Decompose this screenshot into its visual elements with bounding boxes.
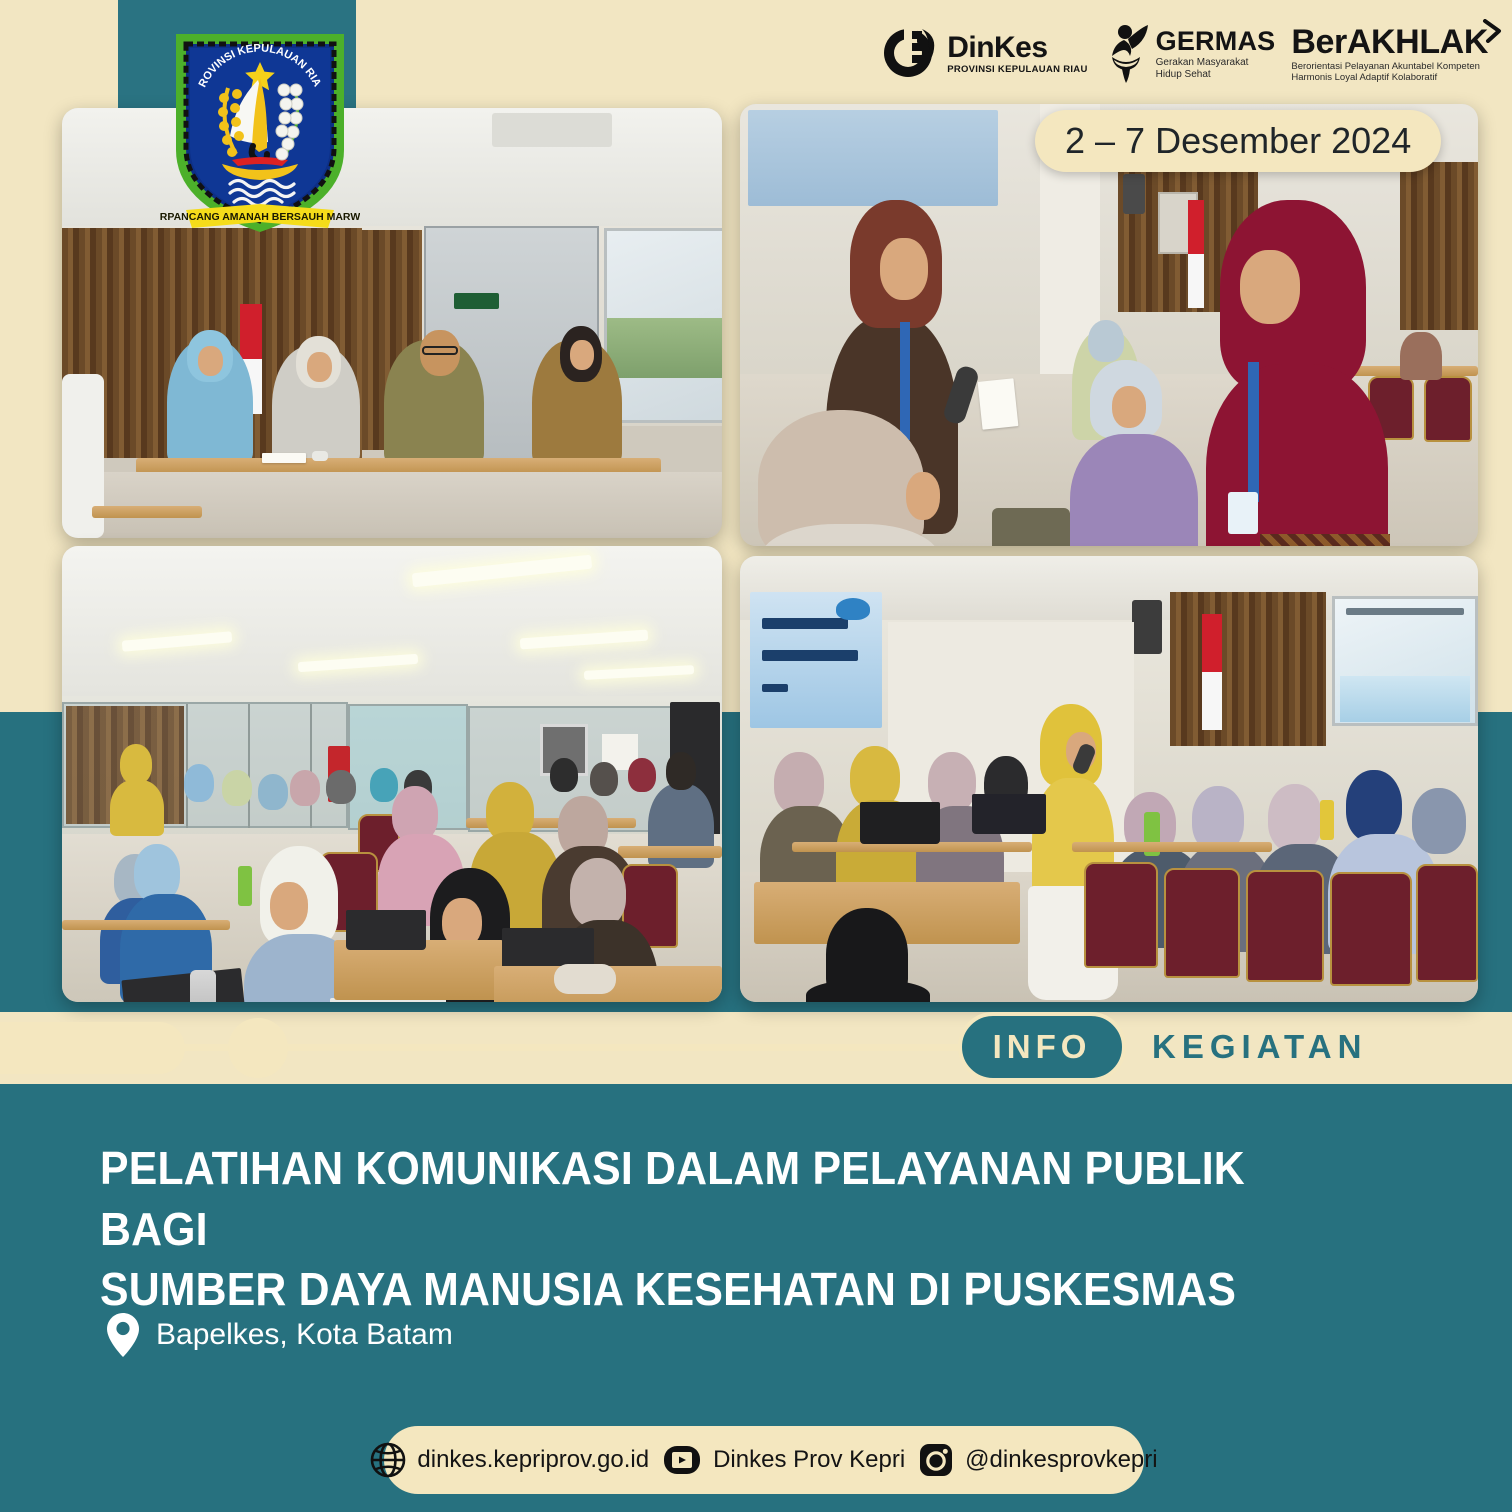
maroon-lanyard <box>1248 362 1259 502</box>
back-table-2 <box>618 846 722 858</box>
footer-contact-bar: dinkes.kepriprov.go.id Dinkes Prov Kepri… <box>384 1426 1144 1494</box>
slide-title <box>1346 608 1464 615</box>
photo-presentation-session <box>740 556 1478 1002</box>
dinkes-subtitle: PROVINSI KEPULAUAN RIAU <box>947 65 1087 75</box>
participant-front-dark-body <box>806 980 930 1002</box>
batik-skirt <box>1260 534 1390 546</box>
floor <box>62 472 722 538</box>
participant-r3-hijab <box>1268 784 1322 852</box>
emblem-motto: BERPANCANG AMANAH BERSAUH MARWAH <box>160 211 360 223</box>
decorative-connector-line <box>184 1044 964 1051</box>
wall-banner <box>748 110 998 206</box>
banner-text-line-3 <box>762 684 788 692</box>
back-participant-maroon <box>628 758 656 792</box>
water-bottle <box>238 866 252 906</box>
side-table <box>92 506 202 518</box>
chair-r4 <box>1330 872 1412 986</box>
decorative-pill-left <box>0 1022 185 1074</box>
date-badge-label: 2 – 7 Desember 2024 <box>1065 120 1411 162</box>
germas-banner-logo <box>836 598 870 620</box>
participant-purple-body <box>1070 434 1198 546</box>
globe-icon <box>370 1442 406 1478</box>
berakhlak-name: BerAKHLAK <box>1291 25 1488 61</box>
germas-subtitle-1: Gerakan Masyarakat <box>1156 58 1276 69</box>
back-participant-teal <box>370 768 398 802</box>
footer-website[interactable]: dinkes.kepriprov.go.id <box>370 1442 649 1478</box>
desk-right <box>1072 842 1272 852</box>
official-3-glasses <box>422 346 458 355</box>
participant-left-face <box>906 472 940 520</box>
participant-right-hijab <box>570 858 626 928</box>
berakhlak-subtitle-1: Berorientasi Pelayanan Akuntabel Kompete… <box>1291 62 1488 72</box>
dinkes-logo-icon <box>880 25 940 83</box>
page-title-line-1: PELATIHAN KOMUNIKASI DALAM PELAYANAN PUB… <box>100 1142 1245 1255</box>
info-badge: INFO <box>958 1012 1126 1082</box>
footer-instagram[interactable]: @dinkesprovkepri <box>918 1442 1157 1478</box>
location-row: Bapelkes, Kota Batam <box>106 1312 453 1358</box>
window-mullion-3 <box>310 704 312 828</box>
held-paper <box>978 378 1019 430</box>
window-mullion-1 <box>186 704 188 828</box>
curtain-right <box>1400 162 1478 330</box>
chair-r3 <box>1246 870 1324 982</box>
back-participant-dark-2 <box>550 758 578 792</box>
youtube-icon <box>662 1440 702 1480</box>
table-paper <box>262 453 306 463</box>
banner-text-line-2 <box>762 650 858 661</box>
back-participant-blue <box>184 764 214 802</box>
participant-r4-hijab <box>1346 770 1402 842</box>
indonesian-flag <box>1202 614 1222 730</box>
window-mullion-2 <box>248 704 250 828</box>
chair-r5 <box>1416 864 1478 982</box>
indonesian-flag <box>1188 200 1204 308</box>
dinkes-name: DinKes <box>947 33 1087 63</box>
germas-name: GERMAS <box>1156 27 1276 55</box>
desk-left-back <box>62 920 230 930</box>
back-participant-yellow-body <box>110 780 164 836</box>
photo-scene <box>62 546 722 1002</box>
official-2-face <box>307 352 332 382</box>
page-title: PELATIHAN KOMUNIKASI DALAM PELAYANAN PUB… <box>100 1138 1318 1320</box>
instagram-icon <box>918 1442 954 1478</box>
laptop-mid <box>972 794 1046 834</box>
chair-r1 <box>1084 862 1158 968</box>
back-participant <box>1400 332 1442 380</box>
kepulauan-riau-provincial-emblem: BERPANCANG AMANAH BERSAUH MARWAH PROVINS… <box>160 18 360 242</box>
back-participant-batik-head <box>666 752 696 790</box>
official-4-face <box>570 340 594 370</box>
slide-graphic <box>1340 676 1470 722</box>
participant-l2-hijab <box>850 746 900 808</box>
germas-logo-icon <box>1104 23 1150 85</box>
back-participant-dark-3 <box>590 762 618 796</box>
header-logo-group: DinKes PROVINSI KEPULAUAN RIAU GERMAS Ge… <box>880 12 1488 96</box>
thermos <box>190 970 216 1002</box>
footer-website-text: dinkes.kepriprov.go.id <box>417 1446 649 1474</box>
back-participant-yellow <box>120 744 152 784</box>
participant-white-face <box>270 882 308 930</box>
location-text: Bapelkes, Kota Batam <box>156 1318 453 1352</box>
germas-subtitle-2: Hidup Sehat <box>1156 70 1276 81</box>
facilitator-face <box>880 238 928 300</box>
dinkes-logo: DinKes PROVINSI KEPULAUAN RIAU <box>880 25 1087 83</box>
back-chair-2 <box>1424 376 1472 442</box>
official-1-face <box>198 346 223 376</box>
wall-speaker <box>1123 174 1145 214</box>
germas-logo: GERMAS Gerakan Masyarakat Hidup Sehat <box>1104 23 1276 85</box>
curtain <box>1170 592 1326 746</box>
back-participant-green <box>222 770 252 806</box>
berakhlak-chevron-icon <box>1482 19 1502 43</box>
laptop-mid <box>346 910 426 950</box>
footer-youtube-text: Dinkes Prov Kepri <box>713 1446 905 1474</box>
participant-back-head <box>1088 320 1124 362</box>
name-badge <box>1228 492 1258 534</box>
dinkes-logo-text: DinKes PROVINSI KEPULAUAN RIAU <box>947 33 1087 75</box>
back-participant-blue-2 <box>258 774 288 810</box>
participant-r5-hijab <box>1412 788 1466 854</box>
water-bottle-2 <box>1320 800 1334 840</box>
ceiling-ac <box>492 113 612 147</box>
handbag <box>992 508 1070 546</box>
map-pin-icon <box>106 1312 140 1358</box>
footer-youtube[interactable]: Dinkes Prov Kepri <box>662 1440 905 1480</box>
kegiatan-label: KEGIATAN <box>1152 1012 1367 1082</box>
participant-purple-face <box>1112 386 1146 428</box>
back-participant-grey <box>326 770 356 804</box>
poster-canvas: BERPANCANG AMANAH BERSAUH MARWAH PROVINS… <box>0 0 1512 1512</box>
kegiatan-label-text: KEGIATAN <box>1152 1028 1367 1066</box>
participant-l1-hijab <box>774 752 824 814</box>
fabric-item <box>554 964 616 994</box>
door-sign <box>454 293 499 309</box>
info-badge-label: INFO <box>993 1028 1092 1066</box>
footer-instagram-text: @dinkesprovkepri <box>965 1446 1157 1474</box>
photo-scene <box>740 556 1478 1002</box>
germas-logo-text: GERMAS Gerakan Masyarakat Hidup Sehat <box>1156 27 1276 80</box>
banner-text-line-1 <box>762 618 848 629</box>
wall-speaker <box>1132 600 1162 654</box>
facilitator-lanyard <box>900 322 910 440</box>
participant-maroon-face <box>1240 250 1300 324</box>
date-badge: 2 – 7 Desember 2024 <box>1035 110 1441 172</box>
back-participant-pink <box>290 770 320 806</box>
table-mic <box>312 451 328 461</box>
berakhlak-logo: BerAKHLAK Berorientasi Pelayanan Akuntab… <box>1291 25 1488 83</box>
decorative-circle <box>228 1018 288 1078</box>
projected-image <box>607 318 722 378</box>
photo-classroom-participants <box>62 546 722 1002</box>
laptop-left <box>860 802 940 844</box>
chair-r2 <box>1164 868 1240 978</box>
berakhlak-subtitle-2: Harmonis Loyal Adaptif Kolaboratif <box>1291 73 1488 83</box>
